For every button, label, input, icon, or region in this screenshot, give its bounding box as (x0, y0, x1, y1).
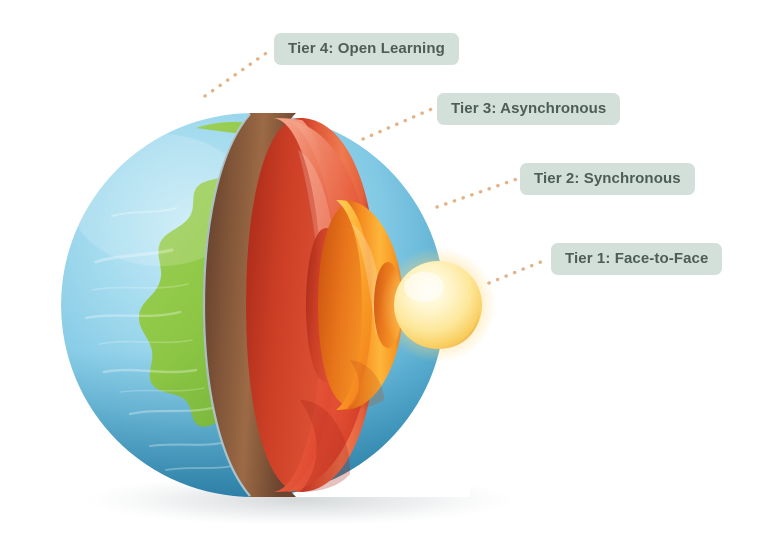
leader-line-tier4 (205, 49, 272, 96)
tier-label-tier2[interactable]: Tier 2: Synchronous (520, 163, 695, 195)
core-specular (404, 272, 444, 302)
tier1-core-sphere (380, 247, 496, 363)
tier-label-tier1[interactable]: Tier 1: Face-to-Face (551, 243, 722, 275)
diagram-canvas: Tier 4: Open Learning Tier 3: Asynchrono… (0, 0, 761, 538)
tier-label-tier3[interactable]: Tier 3: Asynchronous (437, 93, 620, 125)
tier-label-tier4[interactable]: Tier 4: Open Learning (274, 33, 459, 65)
leader-line-tier1 (489, 259, 548, 283)
